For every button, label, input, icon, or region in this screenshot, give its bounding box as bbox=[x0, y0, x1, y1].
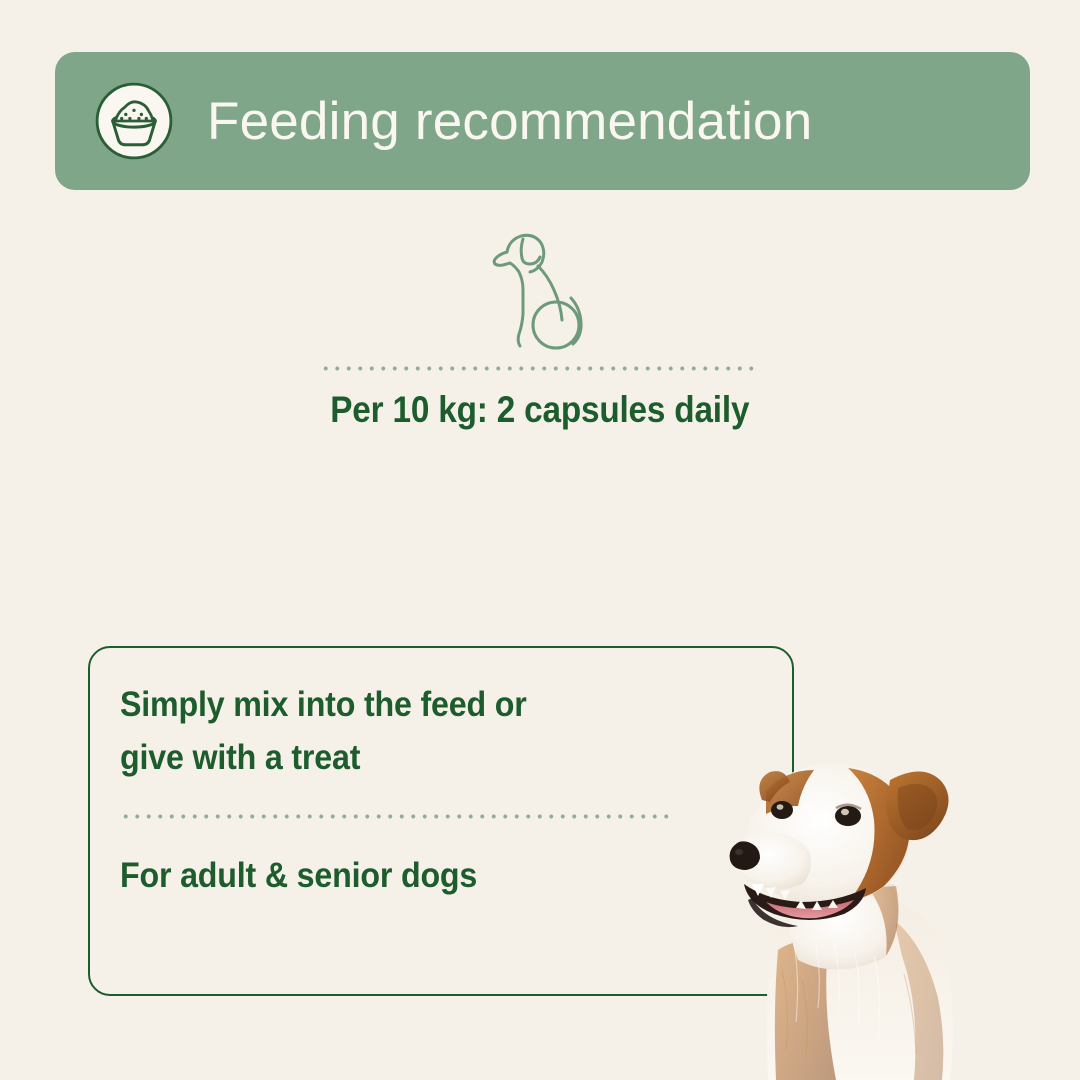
info-card: Simply mix into the feed or give with a … bbox=[88, 646, 794, 996]
dosage-block: Per 10 kg: 2 capsules daily bbox=[0, 222, 1080, 431]
info-card-line-3: For adult & senior dogs bbox=[120, 849, 711, 902]
info-card-dotted-divider bbox=[120, 814, 672, 819]
dosage-text: Per 10 kg: 2 capsules daily bbox=[330, 389, 749, 431]
page-title: Feeding recommendation bbox=[207, 95, 812, 148]
dosage-dotted-divider bbox=[320, 366, 760, 371]
info-card-line-1: Simply mix into the feed or bbox=[120, 678, 711, 731]
header-bar: Feeding recommendation bbox=[55, 52, 1030, 190]
feeding-recommendation-page: Feeding recommendation Per 10 kg: 2 caps… bbox=[0, 0, 1080, 1080]
info-card-line-2: give with a treat bbox=[120, 731, 711, 784]
food-bowl-icon bbox=[93, 80, 175, 162]
sitting-dog-outline-icon bbox=[476, 222, 604, 354]
